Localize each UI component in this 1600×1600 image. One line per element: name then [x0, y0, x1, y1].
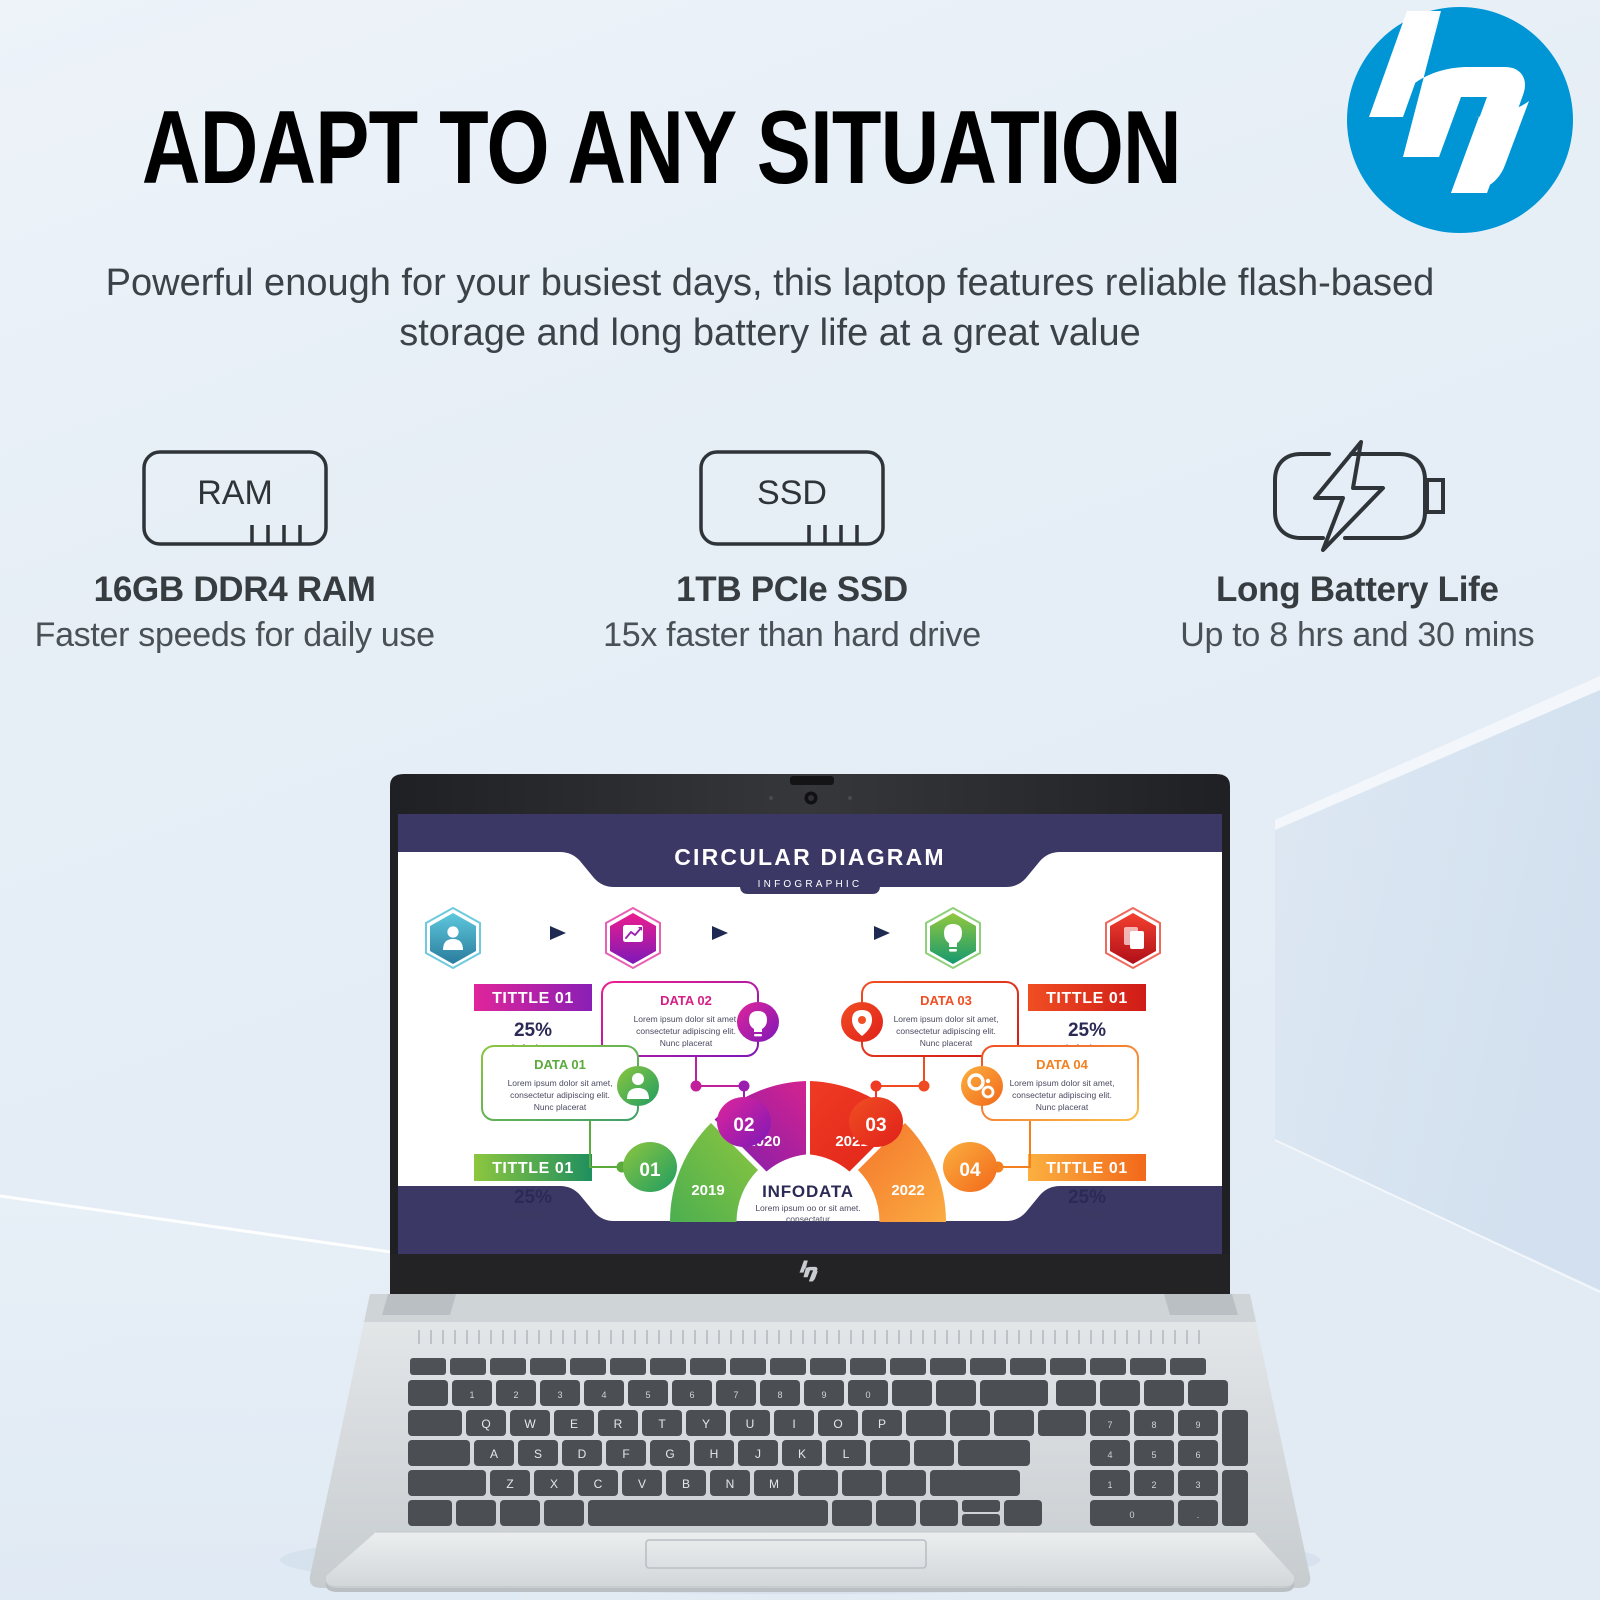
card-data-04-line-2: consectetur adipiscing elit. [1012, 1090, 1112, 1100]
feature-ssd-title: 1TB PCIe SSD [676, 570, 908, 610]
card-data-02-line-3: Nunc placerat [660, 1038, 713, 1048]
svg-text:01: 01 [639, 1160, 661, 1181]
svg-text:Y: Y [702, 1417, 710, 1431]
svg-text:J: J [755, 1447, 761, 1461]
card-data-03-heading: DATA 03 [920, 993, 972, 1008]
subtitle-line-2: storage and long battery life at a great… [60, 308, 1480, 358]
feature-ram: RAM 16GB DDR4 RAM Faster speeds for dail… [0, 440, 501, 690]
svg-text:9: 9 [821, 1390, 826, 1400]
svg-text:U: U [746, 1417, 755, 1431]
stat-tl-percent: 25% [514, 1020, 552, 1041]
svg-text:.: . [1197, 1510, 1200, 1520]
svg-text:R: R [614, 1417, 623, 1431]
svg-text:03: 03 [865, 1115, 886, 1136]
svg-text:9: 9 [1195, 1420, 1200, 1430]
page-title: ADAPT TO ANY SITUATION [142, 96, 1148, 200]
laptop-base: QWE RTY UIO P ASD FGH JKL ZXC VBN M 123 … [310, 1294, 1311, 1592]
location-pin-circle-icon [841, 1002, 883, 1042]
stat-br-title: TITTLE 01 [1046, 1160, 1128, 1177]
feature-battery-subtitle: Up to 8 hrs and 30 mins [1180, 616, 1534, 655]
card-data-04-line-3: Nunc placerat [1036, 1102, 1089, 1112]
screen-subtitle: INFOGRAPHIC [758, 879, 863, 890]
subtitle-line-1: Powerful enough for your busiest days, t… [60, 258, 1480, 308]
stat-tr-title: TITTLE 01 [1046, 990, 1128, 1007]
svg-text:F: F [622, 1447, 629, 1461]
card-data-01-line-1: Lorem ipsum dolor sit amet, [508, 1078, 613, 1088]
svg-text:6: 6 [689, 1390, 694, 1400]
donut-center-line-1: Lorem ipsum oo or sit amet. [755, 1203, 860, 1213]
svg-text:8: 8 [1151, 1420, 1156, 1430]
donut-label-2019: 2019 [691, 1182, 724, 1199]
svg-text:1: 1 [469, 1390, 474, 1400]
svg-text:P: P [878, 1417, 886, 1431]
svg-text:H: H [710, 1447, 719, 1461]
stat-tr-percent: 25% [1068, 1020, 1106, 1041]
stat-br-caption: Infodata [1065, 1208, 1109, 1222]
lightbulb-circle-icon [737, 1002, 779, 1042]
ram-icon-wrap: RAM [140, 440, 330, 552]
svg-text:0: 0 [1129, 1510, 1134, 1520]
card-data-01-line-2: consectetur adipiscing elit. [510, 1090, 610, 1100]
svg-text:W: W [524, 1417, 536, 1431]
svg-text:K: K [798, 1447, 806, 1461]
svg-text:5: 5 [645, 1390, 650, 1400]
svg-text:A: A [490, 1447, 498, 1461]
card-data-02-line-2: consectetur adipiscing elit. [636, 1026, 736, 1036]
donut-label-2022: 2022 [891, 1182, 924, 1199]
card-data-04[interactable]: DATA 04 Lorem ipsum dolor sit amet, cons… [961, 1046, 1138, 1120]
svg-text:Q: Q [481, 1417, 490, 1431]
svg-text:4: 4 [601, 1390, 606, 1400]
ssd-icon-label: SSD [757, 474, 827, 512]
card-data-02[interactable]: DATA 02 Lorem ipsum dolor sit amet, cons… [602, 982, 779, 1056]
svg-text:C: C [594, 1477, 603, 1491]
svg-text:8: 8 [777, 1390, 782, 1400]
feature-row: RAM 16GB DDR4 RAM Faster speeds for dail… [0, 440, 1600, 690]
svg-text:3: 3 [1195, 1480, 1200, 1490]
svg-text:3: 3 [557, 1390, 562, 1400]
ssd-icon-wrap: SSD [697, 440, 887, 552]
svg-text:4: 4 [1107, 1450, 1112, 1460]
battery-charging-icon [1257, 440, 1457, 552]
svg-text:6: 6 [1195, 1450, 1200, 1460]
donut-center-title: INFODATA [762, 1182, 854, 1201]
card-data-02-heading: DATA 02 [660, 993, 712, 1008]
svg-text:7: 7 [1107, 1420, 1112, 1430]
svg-text:X: X [550, 1477, 558, 1491]
svg-text:E: E [570, 1417, 578, 1431]
svg-text:N: N [726, 1477, 735, 1491]
donut-badge-04: 04 [943, 1142, 997, 1192]
svg-text:1: 1 [1107, 1480, 1112, 1490]
svg-text:Z: Z [506, 1477, 513, 1491]
svg-text:2: 2 [513, 1390, 518, 1400]
svg-text:I: I [792, 1417, 795, 1431]
svg-text:S: S [534, 1447, 542, 1461]
laptop-product-image: CIRCULAR DIAGRAM INFOGRAPHIC [250, 770, 1370, 1600]
card-data-03[interactable]: DATA 03 Lorem ipsum dolor sit amet, cons… [841, 982, 1018, 1056]
svg-text:T: T [658, 1417, 666, 1431]
svg-text:L: L [843, 1447, 850, 1461]
stat-bl-caption: Infodata [511, 1208, 555, 1222]
svg-text:D: D [578, 1447, 587, 1461]
battery-icon-wrap [1257, 440, 1457, 552]
laptop-lid: CIRCULAR DIAGRAM INFOGRAPHIC [390, 774, 1230, 1294]
stat-br-percent: 25% [1068, 1187, 1106, 1208]
svg-text:B: B [682, 1477, 690, 1491]
chart-trend-icon [623, 925, 643, 942]
card-data-03-line-2: consectetur adipiscing elit. [896, 1026, 996, 1036]
card-data-01[interactable]: DATA 01 Lorem ipsum dolor sit amet, cons… [482, 1046, 659, 1120]
card-data-01-line-3: Nunc placerat [534, 1102, 587, 1112]
gears-circle-icon [961, 1066, 1003, 1106]
card-data-04-line-1: Lorem ipsum dolor sit amet, [1010, 1078, 1115, 1088]
screen-title: CIRCULAR DIAGRAM [674, 844, 946, 870]
donut-badge-03: 03 [849, 1097, 903, 1147]
ssd-module-icon: SSD [697, 448, 887, 552]
donut-badge-02: 02 [717, 1097, 771, 1147]
page-subtitle: Powerful enough for your busiest days, t… [60, 258, 1480, 358]
svg-text:2: 2 [1151, 1480, 1156, 1490]
card-data-03-line-3: Nunc placerat [920, 1038, 973, 1048]
person-circle-icon [617, 1066, 659, 1106]
screen-content: CIRCULAR DIAGRAM INFOGRAPHIC [398, 814, 1222, 1254]
svg-text:02: 02 [733, 1115, 754, 1136]
card-data-03-line-1: Lorem ipsum dolor sit amet, [894, 1014, 999, 1024]
ram-icon-label: RAM [197, 474, 273, 512]
card-data-01-heading: DATA 01 [534, 1057, 586, 1072]
card-data-04-heading: DATA 04 [1036, 1057, 1089, 1072]
stat-bl-title: TITTLE 01 [492, 1160, 574, 1177]
feature-battery-title: Long Battery Life [1216, 570, 1499, 610]
svg-text:M: M [769, 1477, 779, 1491]
svg-text:0: 0 [865, 1390, 870, 1400]
card-data-02-line-1: Lorem ipsum dolor sit amet, [634, 1014, 739, 1024]
feature-battery: Long Battery Life Up to 8 hrs and 30 min… [1091, 440, 1600, 690]
svg-text:O: O [833, 1417, 842, 1431]
stat-tl-title: TITTLE 01 [492, 990, 574, 1007]
feature-ram-title: 16GB DDR4 RAM [94, 570, 376, 610]
donut-badge-01: 01 [623, 1142, 677, 1192]
stat-bl-percent: 25% [514, 1187, 552, 1208]
feature-ram-subtitle: Faster speeds for daily use [35, 616, 435, 655]
feature-ssd: SSD 1TB PCIe SSD 15x faster than hard dr… [525, 440, 1058, 690]
svg-text:G: G [665, 1447, 674, 1461]
ram-module-icon: RAM [140, 448, 330, 552]
donut-center-line-2: consectatur [786, 1214, 830, 1224]
svg-text:V: V [638, 1477, 646, 1491]
hp-logo-icon [1345, 5, 1575, 235]
feature-ssd-subtitle: 15x faster than hard drive [603, 616, 981, 655]
svg-text:04: 04 [959, 1160, 981, 1181]
svg-text:5: 5 [1151, 1450, 1156, 1460]
svg-text:7: 7 [733, 1390, 738, 1400]
